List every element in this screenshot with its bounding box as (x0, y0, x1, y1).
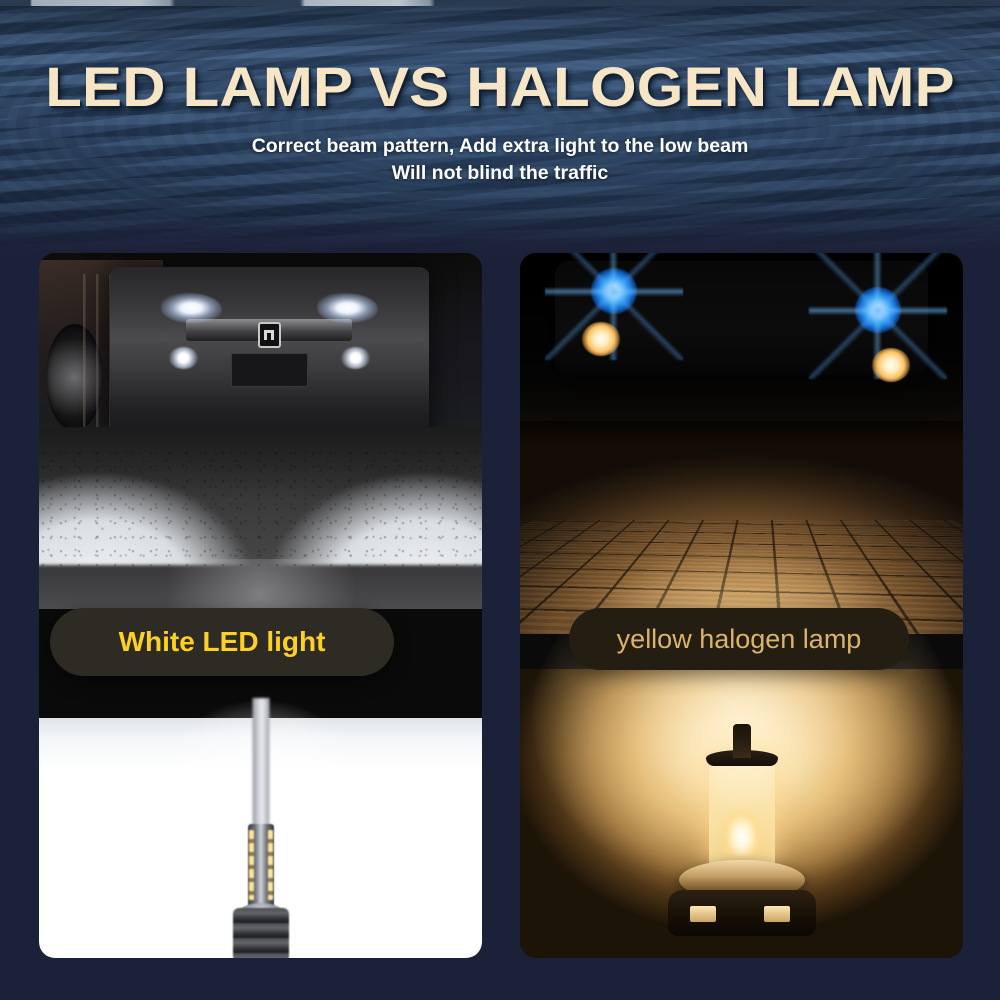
blue-accent-light-left (591, 268, 637, 314)
halogen-contact-tab-right (764, 906, 790, 922)
panel-led[interactable] (39, 253, 482, 958)
subtitle-line-1: Correct beam pattern, Add extra light to… (0, 133, 1000, 160)
led-bulb-base (233, 908, 289, 958)
halogen-bulb-photo (520, 669, 963, 958)
halogen-foglight-left (582, 322, 620, 356)
label-yellow-halogen-lamp: yellow halogen lamp (569, 608, 909, 670)
halogen-foglight-right (872, 348, 910, 382)
label-white-led-light: White LED light (50, 608, 394, 676)
top-image-sliver (0, 0, 1000, 6)
halogen-bulb (652, 722, 832, 952)
page-title: LED LAMP VS HALOGEN LAMP (0, 58, 1000, 115)
halogen-socket-base (668, 890, 816, 936)
page-subtitle: Correct beam pattern, Add extra light to… (0, 133, 1000, 187)
poster-root: LED LAMP VS HALOGEN LAMP Correct beam pa… (0, 0, 1000, 1000)
label-yellow-halogen-lamp-text: yellow halogen lamp (617, 624, 862, 655)
led-bulb-photo (39, 718, 482, 958)
asphalt-grain-texture (39, 449, 482, 566)
header-text-block: LED LAMP VS HALOGEN LAMP Correct beam pa… (0, 0, 1000, 187)
blue-accent-light-right (855, 287, 901, 333)
panel-halogen[interactable] (520, 253, 963, 958)
halogen-tip-shield (733, 724, 751, 758)
license-plate (231, 353, 308, 387)
led-foglight-right (341, 347, 370, 369)
comparison-panels (39, 253, 963, 958)
led-headlight-left (161, 293, 222, 323)
led-bulb-stem (252, 698, 269, 838)
halogen-night-scene-photo (520, 253, 963, 634)
led-chip-array (248, 824, 274, 910)
halogen-filament (722, 808, 762, 856)
header-banner: LED LAMP VS HALOGEN LAMP Correct beam pa… (0, 0, 1000, 252)
led-headlight-right (317, 293, 378, 323)
halogen-contact-tab-left (690, 906, 716, 922)
led-night-scene-photo (39, 253, 482, 609)
tiled-pavement (520, 421, 963, 634)
led-foglight-left (169, 347, 198, 369)
subtitle-line-2: Will not blind the traffic (0, 160, 1000, 187)
led-bulb (231, 698, 291, 958)
label-white-led-light-text: White LED light (119, 626, 326, 658)
honda-emblem-icon (258, 322, 280, 348)
